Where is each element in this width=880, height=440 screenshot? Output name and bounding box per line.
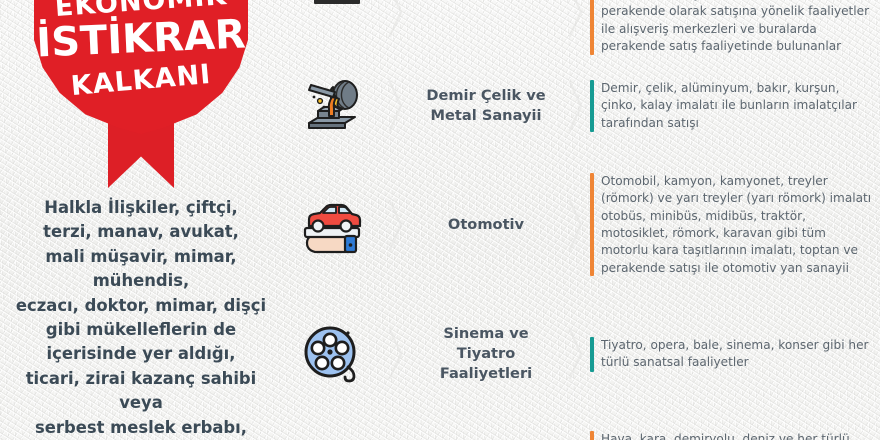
row-accent-bar (590, 80, 594, 132)
table-row: Demir Çelik ve Metal Sanayii Demir, çeli… (282, 60, 880, 152)
left-paragraph-line-5: içerisinde yer aldığı, (47, 344, 236, 363)
left-paragraph-line-0: Halkla İlişkiler, çiftçi, (44, 198, 238, 217)
left-paragraph-line-7: serbest meslek erbabı, (35, 418, 247, 437)
car-on-lift-icon (297, 190, 367, 260)
table-row: fırınlar, kişisel bakım ve kozmetik ürün… (282, 0, 880, 62)
row-description-cell: fırınlar, kişisel bakım ve kozmetik ürün… (590, 0, 880, 55)
category-rows-list: fırınlar, kişisel bakım ve kozmetik ürün… (282, 0, 880, 440)
row-accent-bar (590, 431, 594, 440)
left-paragraph-line-6: ticari, zirai kazanç sahibi veya (26, 369, 257, 412)
ekonomik-istikrar-kalkani-logo: EKONOMİK İSTİKRAR KALKANI (0, 0, 282, 188)
chevron-right-icon (562, 0, 590, 39)
left-paragraph-line-3: eczacı, doktor, mimar, dişçi (16, 296, 266, 315)
chevron-right-icon (382, 198, 410, 252)
row-description-text: Otomobil, kamyon, kamyonet, treyler (röm… (601, 173, 872, 277)
row-description-text: Demir, çelik, alüminyum, bakır, kurşun, … (601, 80, 872, 132)
left-panel: EKONOMİK İSTİKRAR KALKANI Halkla İlişkil… (0, 0, 282, 440)
chevron-right-icon (382, 79, 410, 133)
left-panel-paragraph: Halkla İlişkiler, çiftçi, terzi, manav, … (6, 196, 276, 440)
row-description-cell: Demir, çelik, alüminyum, bakır, kurşun, … (590, 80, 880, 132)
row-description-cell: Otomobil, kamyon, kamyonet, treyler (röm… (590, 173, 880, 277)
storefront-icon (310, 0, 366, 8)
row-title: Otomotiv (410, 215, 562, 235)
row-title-line-0: Sinema ve (443, 325, 528, 342)
chevron-right-icon (562, 327, 590, 381)
left-paragraph-line-2: mali müşavir, mimar, mühendis, (45, 247, 236, 290)
film-reel-icon (298, 320, 366, 388)
row-description-text: Tiyatro, opera, bale, sinema, konser gib… (601, 337, 872, 372)
row-accent-bar (590, 173, 594, 276)
row-title-line-1: Metal Sanayii (431, 107, 542, 124)
row-description-text: Hava, kara, demiryolu, deniz ve her türl… (601, 431, 850, 440)
row-icon-cell (282, 190, 382, 260)
table-row: Otomotiv Otomobil, kamyon, kamyonet, tre… (282, 166, 880, 284)
molten-metal-ladle-icon (299, 73, 365, 139)
row-description-text: fırınlar, kişisel bakım ve kozmetik ürün… (601, 0, 872, 55)
chevron-right-icon (562, 198, 590, 252)
row-accent-bar (590, 0, 594, 55)
row-description-cell: Tiyatro, opera, bale, sinema, konser gib… (590, 337, 880, 372)
row-description-cell: Hava, kara, demiryolu, deniz ve her türl… (590, 431, 880, 440)
chevron-right-icon (382, 327, 410, 381)
left-paragraph-line-4: gibi mükelleflerin de (46, 320, 236, 339)
table-row: Sinema ve Tiyatro Faaliyetleri Tiyatro, … (282, 308, 880, 400)
row-title: Demir Çelik ve Metal Sanayii (410, 86, 562, 126)
row-title: Sinema ve Tiyatro Faaliyetleri (410, 324, 562, 384)
left-paragraph-line-1: terzi, manav, avukat, (43, 222, 239, 241)
chevron-right-icon (562, 79, 590, 133)
table-row: Hava, kara, demiryolu, deniz ve her türl… (282, 420, 880, 440)
row-accent-bar (590, 337, 594, 372)
row-title-line-1: Tiyatro Faaliyetleri (440, 345, 532, 382)
row-icon-cell (282, 320, 382, 388)
chevron-right-icon (382, 0, 410, 39)
row-icon-cell (282, 73, 382, 139)
row-title-line-0: Demir Çelik ve (426, 87, 545, 104)
